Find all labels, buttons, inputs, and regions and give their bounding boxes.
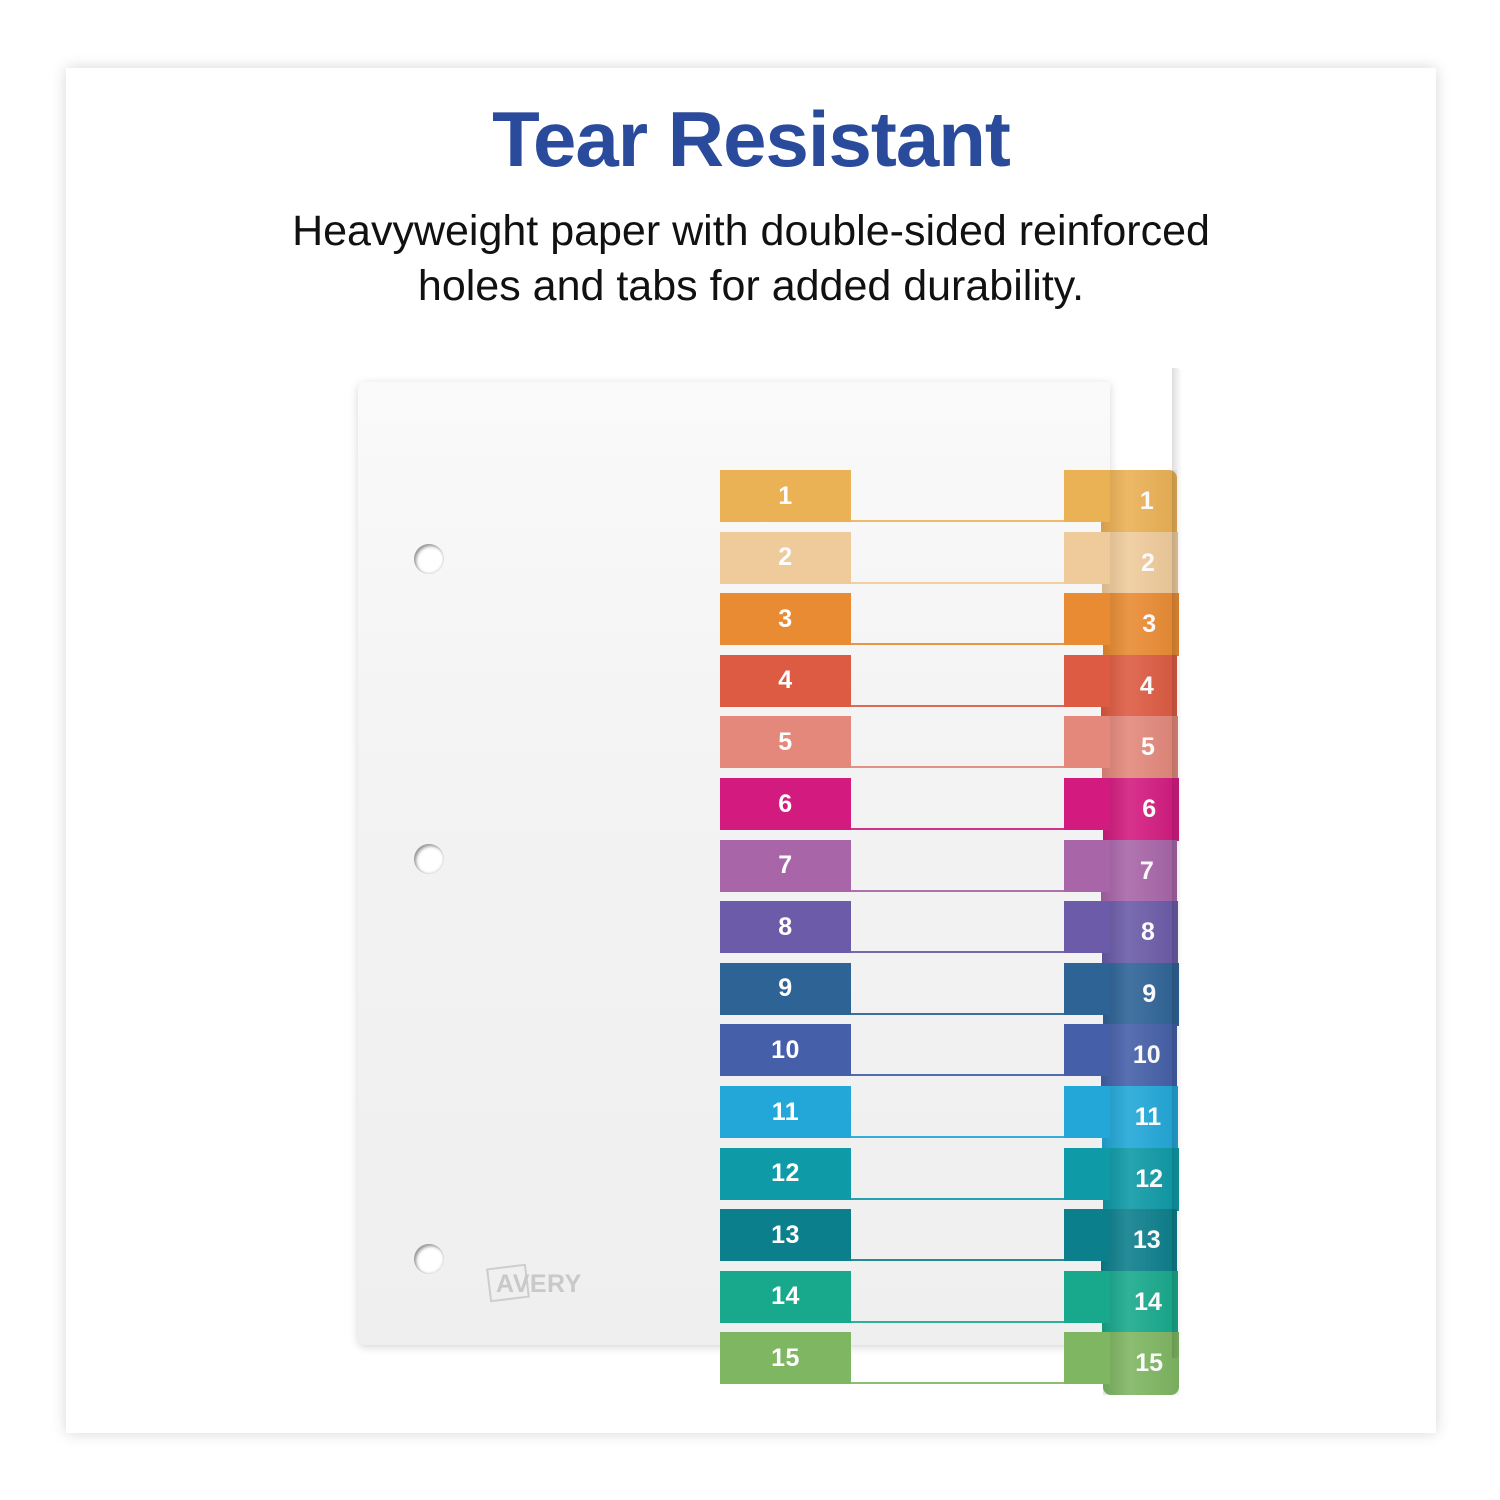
protruding-tab: 8	[1102, 901, 1178, 964]
divider-label-rows: 123456789101112131415	[358, 382, 1110, 1345]
protruding-tab: 1	[1101, 470, 1177, 533]
protruding-tab: 9	[1103, 963, 1179, 1026]
tab-sheen	[1101, 470, 1177, 533]
divider-number-chip: 9	[720, 963, 851, 1015]
tab-sheen	[1101, 1024, 1177, 1087]
divider-row: 7	[720, 840, 1110, 902]
divider-row: 3	[720, 593, 1110, 655]
divider-number-chip: 7	[720, 840, 851, 892]
divider-number-chip: 11	[720, 1086, 851, 1138]
tab-sheen	[1102, 1271, 1178, 1334]
protruding-tab: 13	[1101, 1209, 1177, 1272]
tab-sheen	[1101, 840, 1177, 903]
divider-row: 5	[720, 716, 1110, 778]
divider-number-chip: 6	[720, 778, 851, 830]
divider-endcap	[1064, 716, 1110, 768]
divider-number-chip: 4	[720, 655, 851, 707]
image-canvas: Tear Resistant Heavyweight paper with do…	[0, 0, 1500, 1500]
protruding-tab: 6	[1103, 778, 1179, 841]
divider-number-chip: 8	[720, 901, 851, 953]
tab-sheen	[1103, 593, 1179, 656]
tab-sheen	[1103, 1332, 1179, 1395]
divider-endcap	[1064, 1086, 1110, 1138]
divider-sheet: 123456789101112131415 AVERY	[358, 382, 1110, 1345]
tab-sheen	[1102, 716, 1178, 779]
divider-endcap	[1064, 963, 1110, 1015]
divider-number-chip: 14	[720, 1271, 851, 1323]
divider-row: 12	[720, 1148, 1110, 1210]
divider-row: 14	[720, 1271, 1110, 1333]
tab-sheen	[1101, 1209, 1177, 1272]
protruding-tab: 12	[1103, 1148, 1179, 1211]
header-block: Tear Resistant Heavyweight paper with do…	[66, 100, 1436, 314]
divider-endcap	[1064, 840, 1110, 892]
protruding-tab: 11	[1102, 1086, 1178, 1149]
divider-row: 15	[720, 1332, 1110, 1394]
tab-sheen	[1103, 1148, 1179, 1211]
tab-stack: 123456789101112131415	[1102, 368, 1190, 1358]
protruding-tab: 4	[1101, 655, 1177, 718]
page-title: Tear Resistant	[66, 100, 1436, 178]
divider-number-chip: 15	[720, 1332, 851, 1384]
divider-endcap	[1064, 901, 1110, 953]
protruding-tab: 15	[1103, 1332, 1179, 1395]
protruding-tab: 5	[1102, 716, 1178, 779]
divider-endcap	[1064, 1148, 1110, 1200]
protruding-tab: 10	[1101, 1024, 1177, 1087]
page-subtitle: Heavyweight paper with double-sided rein…	[251, 204, 1251, 314]
tab-sheen	[1102, 901, 1178, 964]
divider-row: 10	[720, 1024, 1110, 1086]
divider-endcap	[1064, 1024, 1110, 1076]
divider-row: 9	[720, 963, 1110, 1025]
divider-row: 8	[720, 901, 1110, 963]
divider-number-chip: 2	[720, 532, 851, 584]
divider-number-chip: 3	[720, 593, 851, 645]
protruding-tab: 14	[1102, 1271, 1178, 1334]
divider-endcap	[1064, 470, 1110, 522]
divider-number-chip: 5	[720, 716, 851, 768]
protruding-tab: 2	[1102, 532, 1178, 595]
tab-sheen	[1102, 532, 1178, 595]
divider-row: 4	[720, 655, 1110, 717]
divider-endcap	[1064, 593, 1110, 645]
divider-row: 2	[720, 532, 1110, 594]
divider-endcap	[1064, 1271, 1110, 1323]
tab-sheen	[1101, 655, 1177, 718]
tab-sheen	[1103, 963, 1179, 1026]
tab-stack-edge-shadow	[1172, 368, 1182, 1358]
tab-sheen	[1103, 778, 1179, 841]
product-card: Tear Resistant Heavyweight paper with do…	[66, 68, 1436, 1433]
divider-endcap	[1064, 1209, 1110, 1261]
divider-number-chip: 10	[720, 1024, 851, 1076]
divider-number-chip: 1	[720, 470, 851, 522]
divider-row: 11	[720, 1086, 1110, 1148]
protruding-tab: 3	[1103, 593, 1179, 656]
divider-row: 6	[720, 778, 1110, 840]
divider-endcap	[1064, 778, 1110, 830]
divider-number-chip: 12	[720, 1148, 851, 1200]
protruding-tab: 7	[1101, 840, 1177, 903]
divider-endcap	[1064, 1332, 1110, 1384]
divider-row: 1	[720, 470, 1110, 532]
avery-logo-text: AVERY	[496, 1270, 582, 1299]
avery-logo: AVERY	[476, 1261, 606, 1303]
divider-row: 13	[720, 1209, 1110, 1271]
divider-number-chip: 13	[720, 1209, 851, 1261]
tab-sheen	[1102, 1086, 1178, 1149]
divider-endcap	[1064, 532, 1110, 584]
divider-endcap	[1064, 655, 1110, 707]
